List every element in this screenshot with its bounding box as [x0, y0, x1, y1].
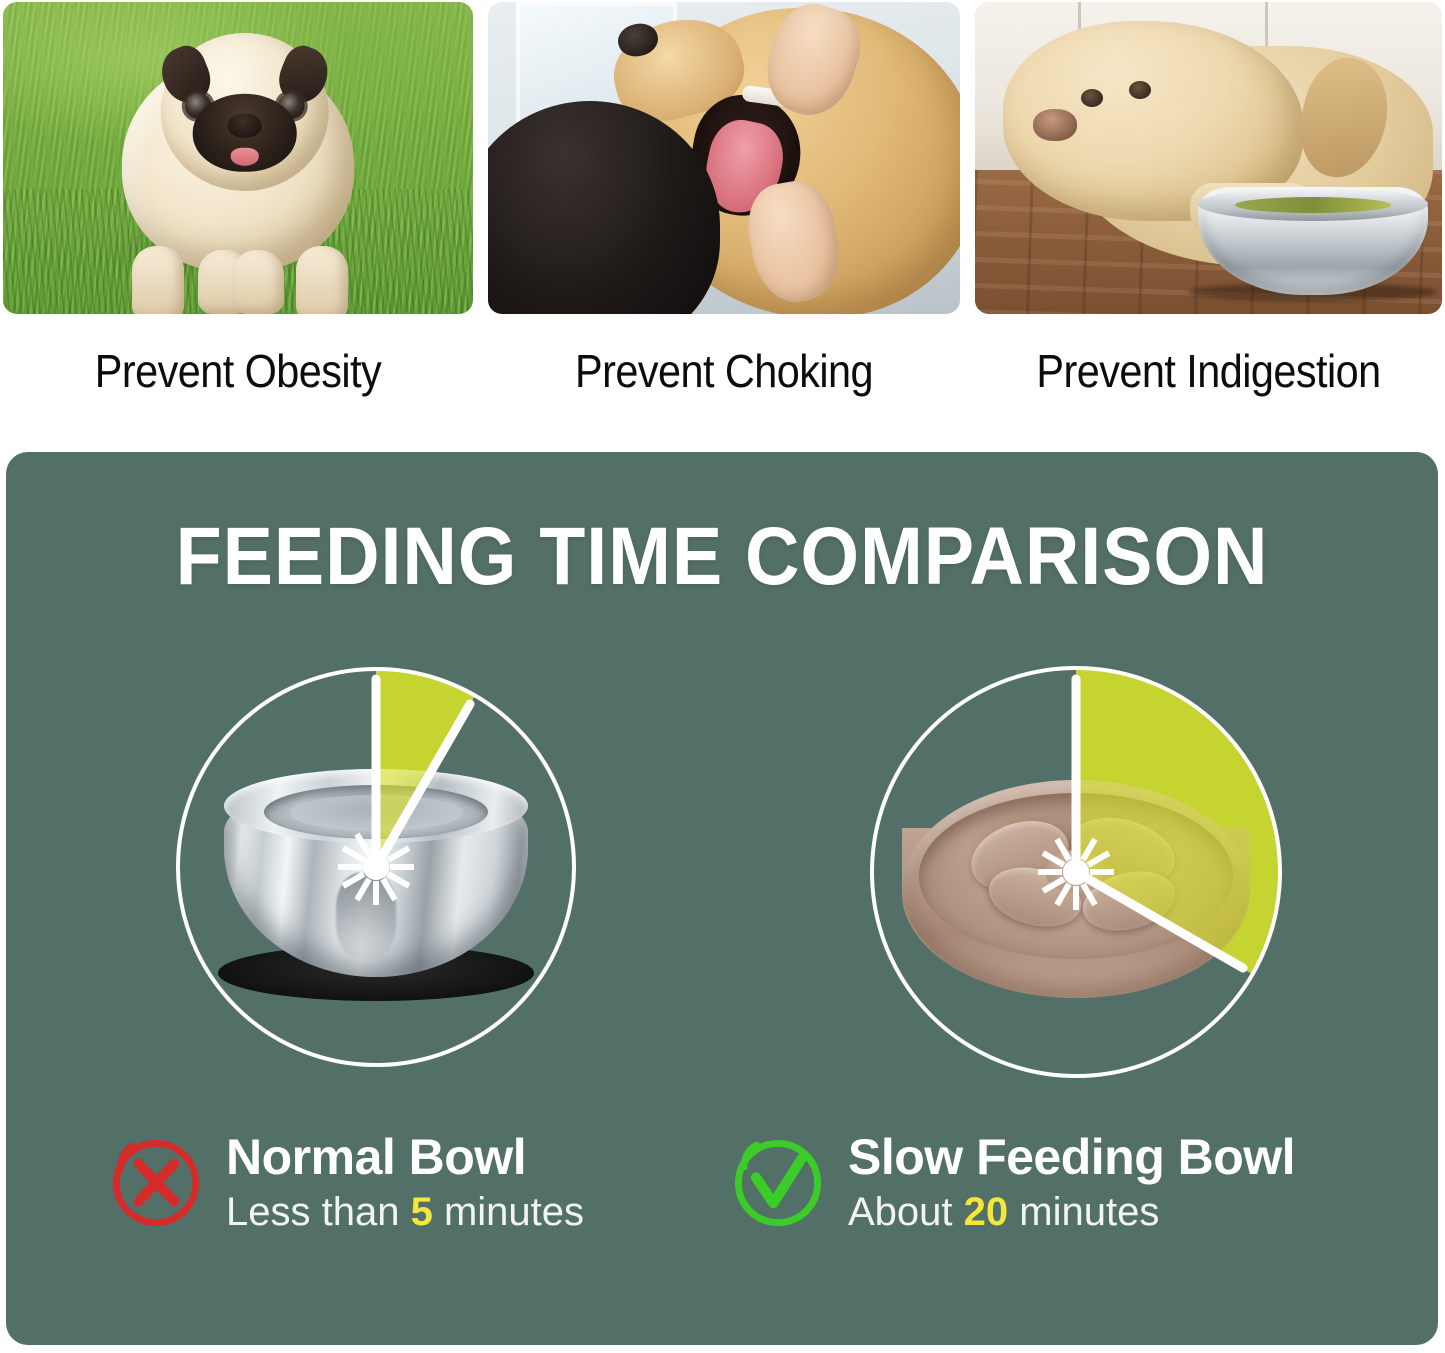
feature-photo-strip	[0, 0, 1445, 318]
legend-sub-value: 20	[964, 1190, 1009, 1234]
pug-nose	[228, 114, 262, 138]
legend-text-block: Normal Bowl Less than 5 minutes	[226, 1130, 584, 1236]
legend-sub-prefix: About	[848, 1190, 953, 1234]
legend-subtitle: Less than 5 minutes	[226, 1188, 584, 1236]
feature-captions: Prevent Obesity Prevent Choking Prevent …	[0, 318, 1445, 436]
steel-food-bowl	[1198, 187, 1428, 295]
feeding-time-comparison-panel: FEEDING TIME COMPARISON	[6, 452, 1438, 1345]
pug-tongue	[231, 148, 259, 166]
feature-photo-obesity	[3, 2, 473, 314]
clock-normal-bowl	[166, 657, 586, 1077]
labrador-eye	[1081, 89, 1103, 107]
clock-overlay-normal	[166, 657, 586, 1077]
comparison-legend: Normal Bowl Less than 5 minutes Slow Fee…	[6, 1120, 1438, 1290]
legend-sub-value: 5	[411, 1190, 433, 1234]
caption-prevent-indigestion: Prevent Indigestion	[998, 344, 1418, 398]
legend-title: Slow Feeding Bowl	[848, 1130, 1295, 1184]
pug-muzzle	[193, 94, 297, 172]
legend-title: Normal Bowl	[226, 1130, 584, 1184]
clock-slow-feeding-bowl	[861, 657, 1291, 1087]
clock-center-dot	[363, 854, 389, 880]
clock-overlay-slow	[861, 657, 1291, 1087]
check-circle-icon	[732, 1137, 824, 1229]
caption-prevent-obesity: Prevent Obesity	[27, 344, 450, 398]
legend-sub-prefix: Less than	[226, 1190, 399, 1234]
pug-head	[161, 33, 329, 191]
legend-subtitle: About 20 minutes	[848, 1188, 1295, 1236]
legend-slow-feeding-bowl: Slow Feeding Bowl About 20 minutes	[732, 1130, 1295, 1236]
feature-photo-choking	[488, 2, 960, 314]
pug-leg	[232, 250, 284, 314]
cross-circle-icon	[110, 1137, 202, 1229]
labrador-nose	[1033, 109, 1077, 141]
pug-leg	[132, 246, 184, 314]
feature-photo-indigestion	[975, 2, 1442, 314]
labrador-eye	[1129, 81, 1151, 99]
pug-body	[122, 56, 354, 272]
caption-prevent-choking: Prevent Choking	[512, 344, 937, 398]
legend-sub-suffix: minutes	[1019, 1190, 1159, 1234]
legend-sub-suffix: minutes	[444, 1190, 584, 1234]
clock-center-dot	[1063, 859, 1089, 885]
legend-normal-bowl: Normal Bowl Less than 5 minutes	[110, 1130, 584, 1236]
legend-text-block: Slow Feeding Bowl About 20 minutes	[848, 1130, 1295, 1236]
pug-leg	[296, 246, 348, 314]
